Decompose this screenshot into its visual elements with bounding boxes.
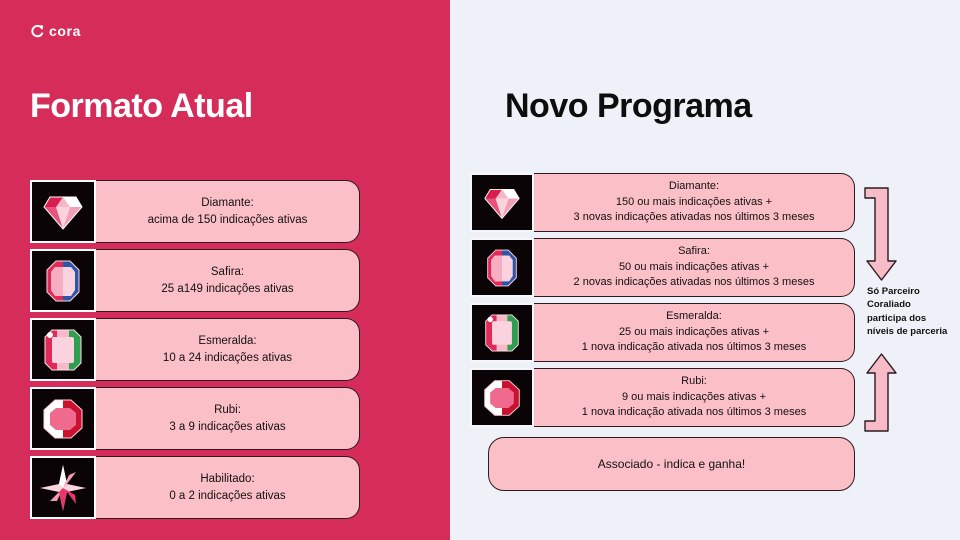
left-tier-list: Diamante: acima de 150 indicações ativas bbox=[30, 180, 360, 525]
cora-wordmark: cora bbox=[49, 24, 81, 38]
new-tier-card-esmeralda: Esmeralda: 25 ou mais indicações ativas … bbox=[534, 303, 855, 362]
tier-row-esmeralda[interactable]: Esmeralda: 10 a 24 indicações ativas bbox=[30, 318, 360, 381]
tier-row-diamante[interactable]: Diamante: acima de 150 indicações ativas bbox=[30, 180, 360, 243]
arrow-up-bracket-icon bbox=[862, 352, 902, 449]
tier-row-habilitado[interactable]: Habilitado: 0 a 2 indicações ativas bbox=[30, 456, 360, 519]
tier-line: 25 ou mais indicações ativas + bbox=[582, 325, 806, 341]
tier-line: 0 a 2 indicações ativas bbox=[169, 488, 285, 505]
tier-card-rubi: Rubi: 3 a 9 indicações ativas bbox=[96, 387, 360, 450]
tier-line: Habilitado: bbox=[169, 471, 285, 488]
tier-line: 150 ou mais indicações ativas + bbox=[574, 195, 815, 211]
tier-line: 10 a 24 indicações ativas bbox=[163, 350, 292, 367]
star-icon bbox=[30, 456, 96, 519]
new-tier-row-diamante[interactable]: Diamante: 150 ou mais indicações ativas … bbox=[470, 173, 855, 232]
tier-line: Safira: bbox=[574, 244, 815, 260]
tier-row-safira[interactable]: Safira: 25 a149 indicações ativas bbox=[30, 249, 360, 312]
tier-row-rubi[interactable]: Rubi: 3 a 9 indicações ativas bbox=[30, 387, 360, 450]
tier-card-safira: Safira: 25 a149 indicações ativas bbox=[96, 249, 360, 312]
associate-card: Associado - indica e ganha! bbox=[488, 437, 855, 491]
associate-row[interactable]: Associado - indica e ganha! bbox=[488, 437, 855, 491]
sapphire-gem-icon bbox=[30, 249, 96, 312]
tier-line: 3 novas indicações ativadas nos últimos … bbox=[574, 210, 815, 226]
diamond-gem-icon bbox=[30, 180, 96, 243]
tier-line: Esmeralda: bbox=[163, 333, 292, 350]
tier-line: Diamante: bbox=[148, 195, 308, 212]
tier-line: 9 ou mais indicações ativas + bbox=[582, 390, 806, 406]
annotation-text: Só Parceiro Coraliado participa dos níve… bbox=[867, 285, 960, 339]
tier-line: 1 nova indicação ativada nos últimos 3 m… bbox=[582, 405, 806, 421]
new-tier-card-diamante: Diamante: 150 ou mais indicações ativas … bbox=[534, 173, 855, 232]
partnership-annotation: Só Parceiro Coraliado participa dos níve… bbox=[862, 185, 960, 445]
sapphire-gem-icon bbox=[470, 238, 534, 297]
new-tier-row-esmeralda[interactable]: Esmeralda: 25 ou mais indicações ativas … bbox=[470, 303, 855, 362]
new-tier-row-rubi[interactable]: Rubi: 9 ou mais indicações ativas + 1 no… bbox=[470, 368, 855, 427]
tier-line: Rubi: bbox=[582, 374, 806, 390]
annotation-line: níveis de parceria bbox=[867, 325, 960, 338]
tier-card-diamante: Diamante: acima de 150 indicações ativas bbox=[96, 180, 360, 243]
cora-logo: cora bbox=[30, 24, 81, 38]
annotation-line: participa dos bbox=[867, 312, 960, 325]
tier-line: 2 novas indicações ativadas nos últimos … bbox=[574, 275, 815, 291]
tier-line: Esmeralda: bbox=[582, 309, 806, 325]
tier-card-esmeralda: Esmeralda: 10 a 24 indicações ativas bbox=[96, 318, 360, 381]
cora-circle-icon bbox=[30, 24, 44, 38]
tier-line: Safira: bbox=[161, 264, 293, 281]
arrow-down-bracket-icon bbox=[862, 185, 902, 290]
new-tier-row-safira[interactable]: Safira: 50 ou mais indicações ativas + 2… bbox=[470, 238, 855, 297]
left-panel: cora Formato Atual bbox=[0, 0, 450, 540]
tier-line: Diamante: bbox=[574, 179, 815, 195]
tier-card-habilitado: Habilitado: 0 a 2 indicações ativas bbox=[96, 456, 360, 519]
tier-line: Rubi: bbox=[169, 402, 285, 419]
ruby-gem-icon bbox=[470, 368, 534, 427]
tier-line: 50 ou mais indicações ativas + bbox=[574, 260, 815, 276]
tier-line: acima de 150 indicações ativas bbox=[148, 212, 308, 229]
right-panel-title: Novo Programa bbox=[505, 88, 752, 125]
slide-root: cora Formato Atual bbox=[0, 0, 960, 540]
left-panel-title: Formato Atual bbox=[30, 88, 253, 125]
new-tier-card-safira: Safira: 50 ou mais indicações ativas + 2… bbox=[534, 238, 855, 297]
right-tier-list: Diamante: 150 ou mais indicações ativas … bbox=[470, 173, 855, 491]
annotation-line: Só Parceiro bbox=[867, 285, 960, 298]
new-tier-card-rubi: Rubi: 9 ou mais indicações ativas + 1 no… bbox=[534, 368, 855, 427]
emerald-gem-icon bbox=[30, 318, 96, 381]
diamond-gem-icon bbox=[470, 173, 534, 232]
tier-line: 3 a 9 indicações ativas bbox=[169, 419, 285, 436]
tier-line: 1 nova indicação ativada nos últimos 3 m… bbox=[582, 340, 806, 356]
tier-line: 25 a149 indicações ativas bbox=[161, 281, 293, 298]
emerald-gem-icon bbox=[470, 303, 534, 362]
ruby-gem-icon bbox=[30, 387, 96, 450]
annotation-line: Coraliado bbox=[867, 298, 960, 311]
